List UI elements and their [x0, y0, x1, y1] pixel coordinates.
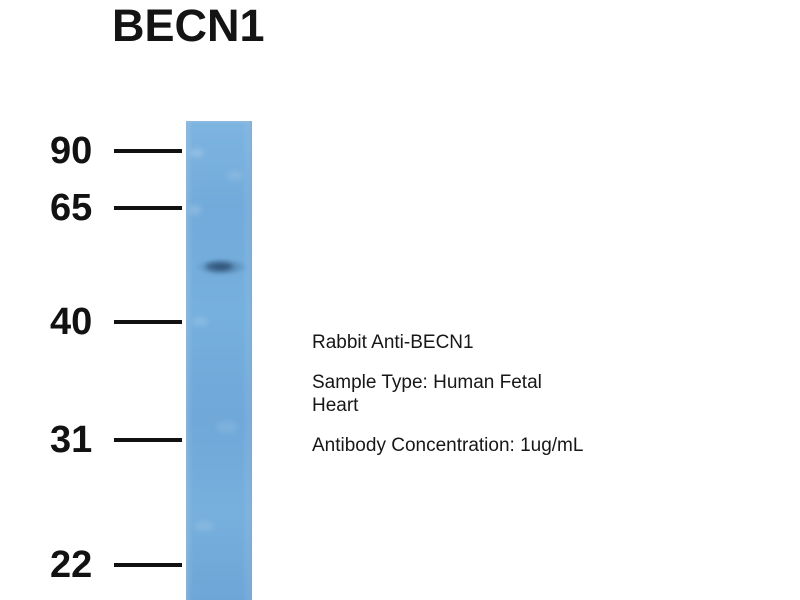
lane-texture-6: [194, 521, 214, 531]
marker-dash-65: [114, 206, 182, 210]
blot-caption: Rabbit Anti-BECN1 Sample Type: Human Fet…: [312, 332, 782, 475]
marker-31: 31: [50, 418, 182, 462]
marker-dash-31: [114, 438, 182, 442]
caption-concentration-text: Antibody Concentration: 1ug/mL: [312, 435, 782, 457]
lane-texture-4: [192, 317, 208, 326]
marker-90: 90: [50, 129, 182, 173]
marker-40: 40: [50, 300, 182, 344]
marker-22: 22: [50, 543, 182, 587]
marker-dash-22: [114, 563, 182, 567]
page-title: BECN1: [112, 2, 265, 49]
marker-dash-40: [114, 320, 182, 324]
lane-top-edge: [186, 121, 252, 124]
lane-right-edge: [248, 121, 252, 600]
blot-lane-container: [186, 121, 252, 600]
western-blot-figure: BECN1 90 65 40 31 22 Rabbit: [0, 0, 800, 600]
lane-texture-5: [216, 421, 238, 433]
lane-texture-2: [189, 205, 201, 215]
caption-antibody-text: Rabbit Anti-BECN1: [312, 332, 782, 354]
protein-band-core: [206, 262, 232, 271]
lane-texture-1: [190, 149, 204, 157]
marker-label-31: 31: [50, 421, 112, 459]
caption-sample-type: Sample Type: Human Fetal Heart: [312, 372, 782, 417]
marker-label-40: 40: [50, 303, 112, 341]
marker-label-22: 22: [50, 546, 112, 584]
caption-sample-type-line1: Sample Type: Human Fetal: [312, 372, 782, 394]
marker-label-65: 65: [50, 189, 112, 227]
marker-dash-90: [114, 149, 182, 153]
marker-label-90: 90: [50, 132, 112, 170]
caption-antibody: Rabbit Anti-BECN1: [312, 332, 782, 354]
lane-texture-3: [226, 171, 244, 180]
caption-sample-type-line2: Heart: [312, 395, 782, 417]
caption-concentration: Antibody Concentration: 1ug/mL: [312, 435, 782, 457]
lane-left-edge: [186, 121, 189, 600]
marker-65: 65: [50, 186, 182, 230]
